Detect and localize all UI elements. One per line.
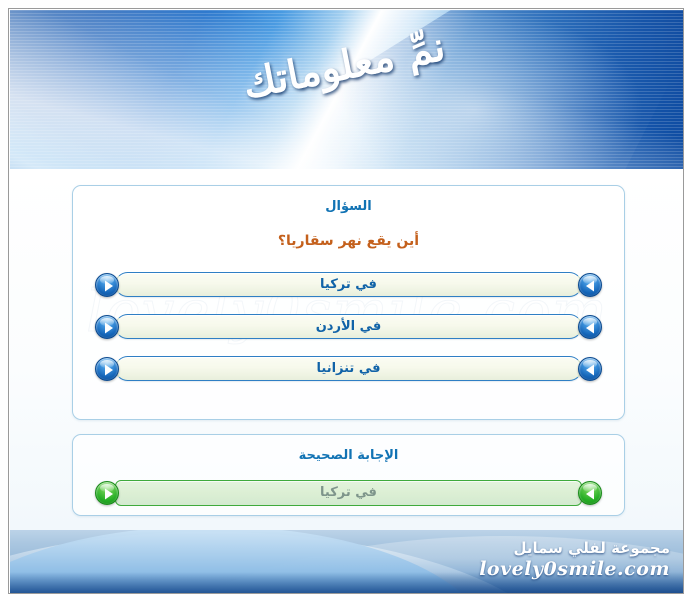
play-left-icon[interactable] bbox=[578, 273, 602, 297]
question-panel: السؤال أين يقع نهر سقاريا؟ في تركيا bbox=[72, 185, 625, 420]
option-label: في الأردن bbox=[95, 311, 602, 342]
question-text: أين يقع نهر سقاريا؟ bbox=[73, 233, 624, 249]
option-row[interactable]: في تركيا bbox=[95, 269, 602, 300]
correct-answer-panel: الإجابة الصحيحة في تركيا bbox=[72, 434, 625, 516]
play-right-icon[interactable] bbox=[95, 315, 119, 339]
correct-answer-row[interactable]: في تركيا bbox=[95, 477, 602, 509]
question-heading: السؤال bbox=[73, 199, 624, 214]
screenshot-root: نمِّ معلوماتك lovely0smile.com السؤال أي… bbox=[0, 0, 692, 602]
footer-arabic-name: مجموعة لفلي سمايل bbox=[479, 538, 670, 558]
app-frame: نمِّ معلوماتك lovely0smile.com السؤال أي… bbox=[8, 8, 684, 594]
option-label: في تنزانيا bbox=[95, 353, 602, 384]
play-left-icon[interactable] bbox=[578, 481, 602, 505]
play-left-icon[interactable] bbox=[578, 315, 602, 339]
footer-branding: مجموعة لفلي سمايل lovely0smile.com bbox=[479, 538, 670, 580]
options-list: في تركيا bbox=[73, 269, 624, 384]
header-banner: نمِّ معلوماتك bbox=[10, 10, 684, 170]
play-left-icon[interactable] bbox=[578, 357, 602, 381]
main-content: lovely0smile.com السؤال أين يقع نهر سقار… bbox=[10, 169, 684, 530]
play-right-icon[interactable] bbox=[95, 273, 119, 297]
option-label: في تركيا bbox=[95, 269, 602, 300]
correct-answer-label: في تركيا bbox=[95, 477, 602, 509]
footer-url: lovely0smile.com bbox=[479, 558, 670, 580]
option-row[interactable]: في تنزانيا bbox=[95, 353, 602, 384]
correct-answer-heading: الإجابة الصحيحة bbox=[73, 448, 624, 463]
option-row[interactable]: في الأردن bbox=[95, 311, 602, 342]
footer-banner: مجموعة لفلي سمايل lovely0smile.com bbox=[10, 530, 684, 594]
play-right-icon[interactable] bbox=[95, 481, 119, 505]
play-right-icon[interactable] bbox=[95, 357, 119, 381]
